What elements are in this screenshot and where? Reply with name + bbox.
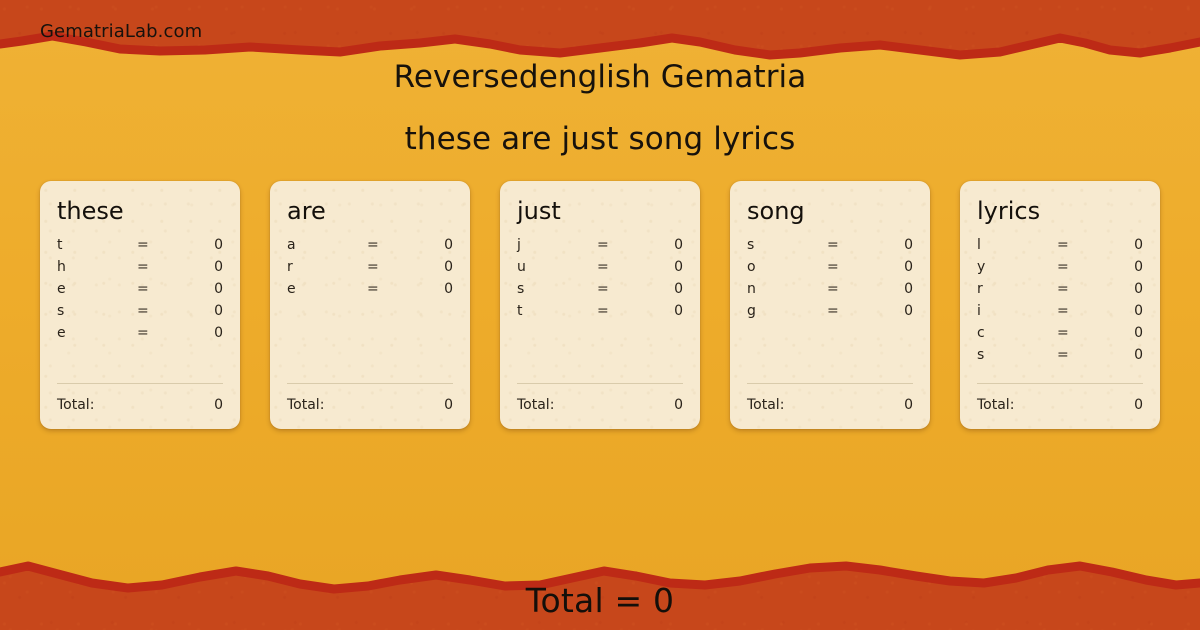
letter-value-row: c=0 <box>977 325 1143 347</box>
letter-value: 0 <box>879 281 913 297</box>
letter-value-row: h=0 <box>57 259 223 281</box>
word-card-list: theset=0h=0e=0s=0e=0Total:0area=0r=0e=0T… <box>40 181 1160 429</box>
word-card: theset=0h=0e=0s=0e=0Total:0 <box>40 181 240 429</box>
letter-value: 0 <box>1109 281 1143 297</box>
letter-value-row: j=0 <box>517 237 683 259</box>
word-total-label: Total: <box>517 397 554 413</box>
equals-sign: = <box>367 281 419 297</box>
word-card-footer: Total:0 <box>977 383 1143 413</box>
poster-canvas: GematriaLab.com Reversedenglish Gematria… <box>0 0 1200 630</box>
letter-value: 0 <box>879 303 913 319</box>
letter-value-row: r=0 <box>977 281 1143 303</box>
letter-glyph: e <box>287 281 367 297</box>
letter-glyph: h <box>57 259 137 275</box>
card-divider <box>57 383 223 384</box>
letter-value: 0 <box>879 237 913 253</box>
grand-total: Total = 0 <box>0 581 1200 620</box>
letter-value: 0 <box>649 237 683 253</box>
equals-sign: = <box>1057 259 1109 275</box>
letter-glyph: t <box>517 303 597 319</box>
equals-sign: = <box>137 237 189 253</box>
equals-sign: = <box>827 237 879 253</box>
letter-value: 0 <box>419 237 453 253</box>
equals-sign: = <box>1057 347 1109 363</box>
letter-value-row: i=0 <box>977 303 1143 325</box>
letter-value-row: u=0 <box>517 259 683 281</box>
equals-sign: = <box>1057 303 1109 319</box>
word-card: justj=0u=0s=0t=0Total:0 <box>500 181 700 429</box>
word-card-footer: Total:0 <box>747 383 913 413</box>
letter-value-rows: a=0r=0e=0 <box>287 237 453 303</box>
word-total-label: Total: <box>57 397 94 413</box>
letter-value-row: s=0 <box>57 303 223 325</box>
card-divider <box>747 383 913 384</box>
equals-sign: = <box>827 303 879 319</box>
equals-sign: = <box>597 237 649 253</box>
equals-sign: = <box>827 281 879 297</box>
letter-value: 0 <box>189 237 223 253</box>
equals-sign: = <box>137 259 189 275</box>
letter-value-row: e=0 <box>287 281 453 303</box>
word-total-label: Total: <box>977 397 1014 413</box>
equals-sign: = <box>597 281 649 297</box>
word-total-value: 0 <box>214 397 223 413</box>
letter-glyph: s <box>57 303 137 319</box>
letter-value-rows: l=0y=0r=0i=0c=0s=0 <box>977 237 1143 369</box>
word-total-row: Total:0 <box>977 397 1143 413</box>
letter-value: 0 <box>419 281 453 297</box>
letter-glyph: u <box>517 259 597 275</box>
equals-sign: = <box>597 303 649 319</box>
word-total-row: Total:0 <box>517 397 683 413</box>
word-total-label: Total: <box>747 397 784 413</box>
letter-value-row: t=0 <box>57 237 223 259</box>
letter-value-row: g=0 <box>747 303 913 325</box>
word-card-title: song <box>747 199 913 223</box>
letter-value-rows: s=0o=0n=0g=0 <box>747 237 913 325</box>
phrase-text: these are just song lyrics <box>0 121 1200 157</box>
letter-value: 0 <box>1109 259 1143 275</box>
letter-value: 0 <box>1109 237 1143 253</box>
letter-value: 0 <box>879 259 913 275</box>
letter-value-rows: t=0h=0e=0s=0e=0 <box>57 237 223 347</box>
letter-value-row: e=0 <box>57 281 223 303</box>
letter-value: 0 <box>1109 325 1143 341</box>
equals-sign: = <box>1057 325 1109 341</box>
letter-value-row: l=0 <box>977 237 1143 259</box>
letter-glyph: r <box>977 281 1057 297</box>
letter-glyph: i <box>977 303 1057 319</box>
word-card-footer: Total:0 <box>517 383 683 413</box>
letter-value-row: e=0 <box>57 325 223 347</box>
letter-value-row: t=0 <box>517 303 683 325</box>
letter-glyph: r <box>287 259 367 275</box>
letter-value-row: s=0 <box>517 281 683 303</box>
letter-glyph: a <box>287 237 367 253</box>
word-card: lyricsl=0y=0r=0i=0c=0s=0Total:0 <box>960 181 1160 429</box>
letter-glyph: j <box>517 237 597 253</box>
letter-value: 0 <box>189 303 223 319</box>
letter-glyph: g <box>747 303 827 319</box>
letter-glyph: n <box>747 281 827 297</box>
word-card: area=0r=0e=0Total:0 <box>270 181 470 429</box>
equals-sign: = <box>1057 237 1109 253</box>
word-total-row: Total:0 <box>747 397 913 413</box>
equals-sign: = <box>367 237 419 253</box>
word-card-title: lyrics <box>977 199 1143 223</box>
letter-value-row: s=0 <box>977 347 1143 369</box>
word-total-value: 0 <box>904 397 913 413</box>
letter-value: 0 <box>649 281 683 297</box>
letter-value-row: y=0 <box>977 259 1143 281</box>
word-card-footer: Total:0 <box>287 383 453 413</box>
letter-glyph: s <box>747 237 827 253</box>
letter-value: 0 <box>419 259 453 275</box>
letter-value-row: n=0 <box>747 281 913 303</box>
card-divider <box>517 383 683 384</box>
letter-glyph: s <box>977 347 1057 363</box>
equals-sign: = <box>1057 281 1109 297</box>
word-total-value: 0 <box>444 397 453 413</box>
letter-value: 0 <box>649 303 683 319</box>
equals-sign: = <box>597 259 649 275</box>
word-card-footer: Total:0 <box>57 383 223 413</box>
equals-sign: = <box>367 259 419 275</box>
letter-value-row: s=0 <box>747 237 913 259</box>
card-divider <box>287 383 453 384</box>
word-card-title: these <box>57 199 223 223</box>
letter-value-row: a=0 <box>287 237 453 259</box>
letter-value-row: r=0 <box>287 259 453 281</box>
letter-glyph: s <box>517 281 597 297</box>
equals-sign: = <box>137 281 189 297</box>
word-total-value: 0 <box>674 397 683 413</box>
letter-value-rows: j=0u=0s=0t=0 <box>517 237 683 325</box>
equals-sign: = <box>827 259 879 275</box>
word-card: songs=0o=0n=0g=0Total:0 <box>730 181 930 429</box>
word-card-title: just <box>517 199 683 223</box>
letter-value: 0 <box>189 281 223 297</box>
site-brand-watermark: GematriaLab.com <box>40 21 202 42</box>
letter-glyph: c <box>977 325 1057 341</box>
letter-value: 0 <box>1109 303 1143 319</box>
cipher-title: Reversedenglish Gematria <box>0 59 1200 95</box>
word-total-label: Total: <box>287 397 324 413</box>
letter-glyph: o <box>747 259 827 275</box>
letter-glyph: y <box>977 259 1057 275</box>
letter-value: 0 <box>189 259 223 275</box>
equals-sign: = <box>137 303 189 319</box>
word-total-value: 0 <box>1134 397 1143 413</box>
letter-value: 0 <box>649 259 683 275</box>
word-total-row: Total:0 <box>287 397 453 413</box>
equals-sign: = <box>137 325 189 341</box>
letter-value: 0 <box>1109 347 1143 363</box>
letter-glyph: e <box>57 325 137 341</box>
letter-glyph: t <box>57 237 137 253</box>
word-total-row: Total:0 <box>57 397 223 413</box>
letter-value: 0 <box>189 325 223 341</box>
word-card-title: are <box>287 199 453 223</box>
letter-glyph: l <box>977 237 1057 253</box>
letter-glyph: e <box>57 281 137 297</box>
card-divider <box>977 383 1143 384</box>
letter-value-row: o=0 <box>747 259 913 281</box>
